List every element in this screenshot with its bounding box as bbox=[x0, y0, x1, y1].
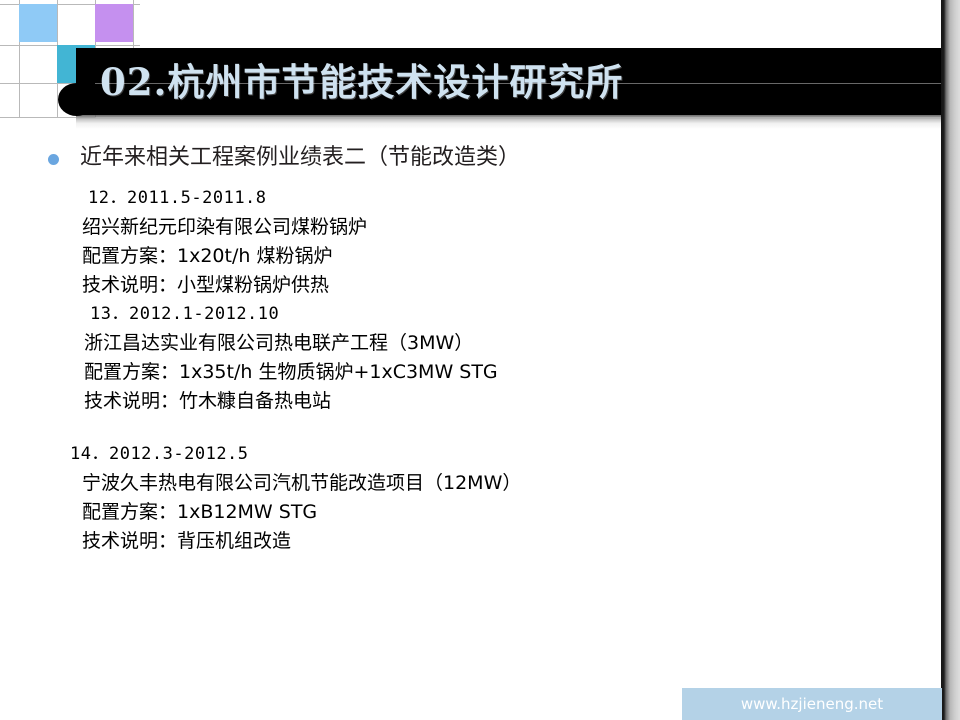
decorative-square-light-blue bbox=[19, 4, 57, 42]
entry-configuration: 配置方案：1xB12MW STG bbox=[82, 498, 521, 527]
heading-row: 近年来相关工程案例业绩表二（节能改造类） bbox=[48, 143, 520, 173]
project-entry: 13．2012.1-2012.10 浙江昌达实业有限公司热电联产工程（3MW） … bbox=[90, 300, 498, 416]
grid-line-vertical bbox=[133, 0, 134, 48]
project-entry: 14．2012.3-2012.5 宁波久丰热电有限公司汽机节能改造项目（12MW… bbox=[70, 440, 521, 556]
entry-project-name: 绍兴新纪元印染有限公司煤粉锅炉 bbox=[82, 213, 367, 242]
bullet-icon bbox=[48, 154, 59, 165]
decorative-square-purple bbox=[95, 4, 133, 42]
slide-title: 02.杭州市节能技术设计研究所 bbox=[100, 52, 623, 112]
entry-project-name: 宁波久丰热电有限公司汽机节能改造项目（12MW） bbox=[82, 469, 521, 498]
entry-project-name: 浙江昌达实业有限公司热电联产工程（3MW） bbox=[84, 329, 498, 358]
presentation-slide: 02.杭州市节能技术设计研究所 近年来相关工程案例业绩表二（节能改造类） 12．… bbox=[0, 0, 960, 720]
grid-line-horizontal bbox=[0, 83, 76, 84]
entry-technical-note: 技术说明：小型煤粉锅炉供热 bbox=[82, 271, 367, 300]
slide-heading: 近年来相关工程案例业绩表二（节能改造类） bbox=[80, 143, 520, 173]
entry-technical-note: 技术说明：竹木糠自备热电站 bbox=[84, 387, 498, 416]
grid-line-horizontal bbox=[0, 117, 76, 118]
footer-url: www.hzjieneng.net bbox=[682, 688, 942, 720]
slide-right-edge-shadow bbox=[941, 0, 960, 720]
entry-configuration: 配置方案：1x20t/h 煤粉锅炉 bbox=[82, 242, 367, 271]
entry-configuration: 配置方案：1x35t/h 生物质锅炉+1xC3MW STG bbox=[84, 358, 498, 387]
decorative-circle bbox=[58, 83, 95, 116]
entry-technical-note: 技术说明：背压机组改造 bbox=[82, 527, 521, 556]
title-rule bbox=[95, 117, 941, 118]
entry-number: 13．2012.1-2012.10 bbox=[90, 300, 498, 329]
entry-number: 12．2011.5-2011.8 bbox=[88, 184, 367, 213]
project-entry: 12．2011.5-2011.8 绍兴新纪元印染有限公司煤粉锅炉 配置方案：1x… bbox=[88, 184, 367, 300]
entry-number: 14．2012.3-2012.5 bbox=[70, 440, 521, 469]
